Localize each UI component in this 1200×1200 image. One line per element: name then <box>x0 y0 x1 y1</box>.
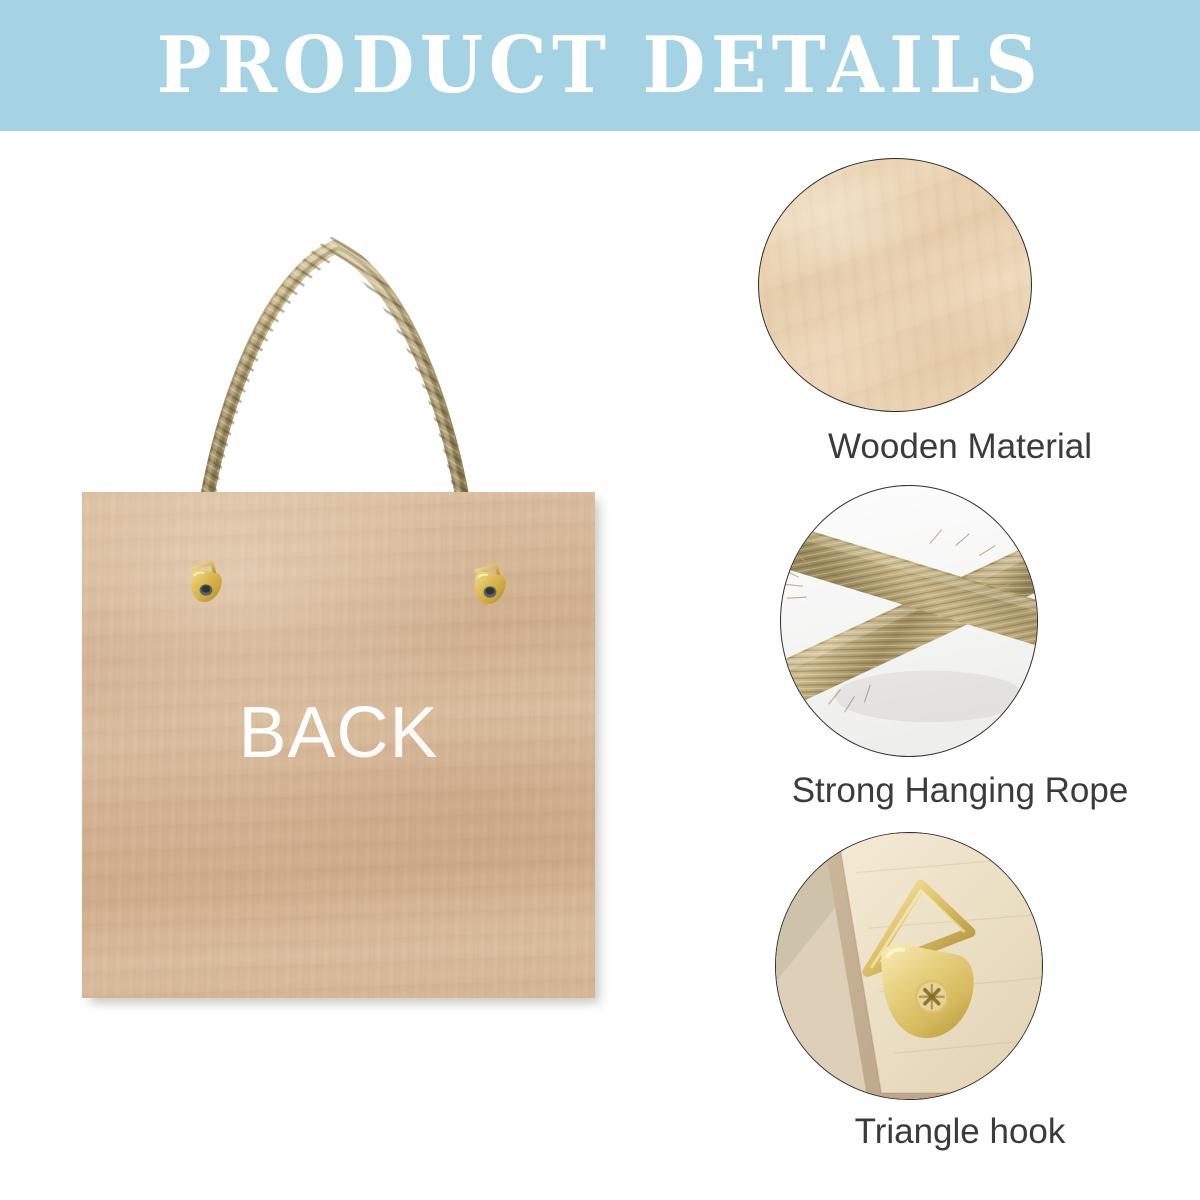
detail-label-hanging-rope: Strong Hanging Rope <box>720 771 1200 811</box>
detail-label-triangle-hook: Triangle hook <box>720 1112 1200 1152</box>
detail-item-triangle-hook: Triangle hook <box>720 824 1200 1174</box>
triangle-hook-closeup-icon <box>775 832 1043 1100</box>
detail-label-wooden-material: Wooden Material <box>720 427 1200 467</box>
board-hook-left <box>178 559 230 613</box>
header-banner: PRODUCT DETAILS <box>0 0 1200 131</box>
detail-item-hanging-rope: Strong Hanging Rope <box>720 479 1200 809</box>
page-title: PRODUCT DETAILS <box>42 18 1158 114</box>
jute-rope-closeup-icon <box>780 485 1038 757</box>
detail-feature-list: Wooden Material <box>720 131 1200 1200</box>
triangle-hook-art <box>776 833 1042 1099</box>
board-back-label: BACK <box>82 697 595 769</box>
detail-item-wooden-material: Wooden Material <box>720 151 1200 471</box>
product-photo: BACK <box>0 131 720 1200</box>
rope-closeup-art <box>781 486 1037 756</box>
wooden-material-closeup-icon <box>758 158 1032 412</box>
board-hook-right <box>462 561 514 615</box>
wooden-board: BACK <box>82 492 595 998</box>
